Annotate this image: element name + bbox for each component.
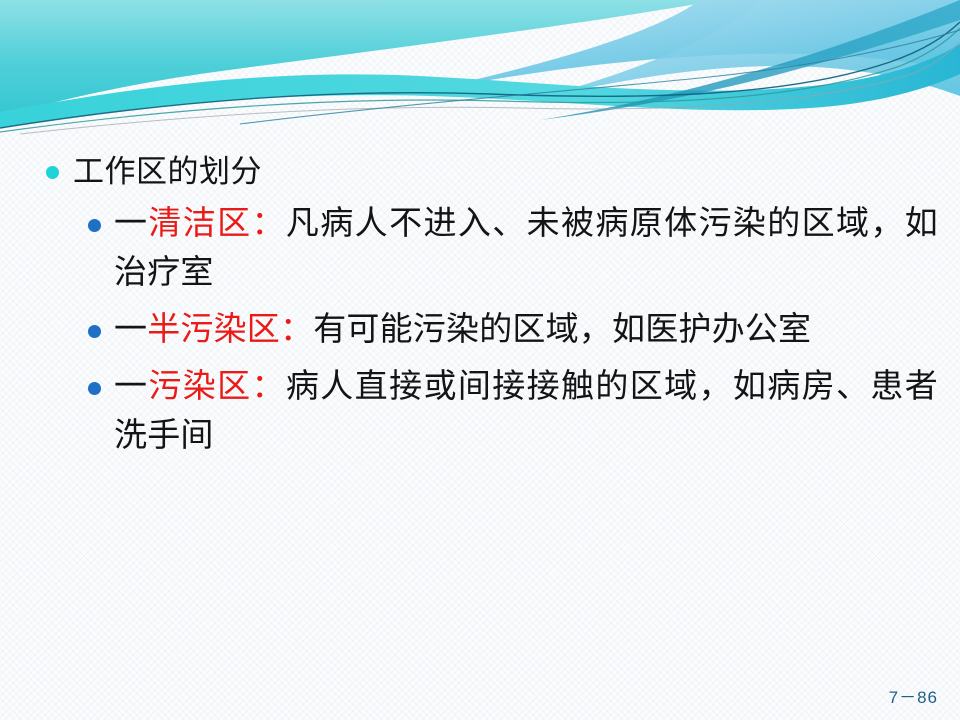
filled-circle-bullet-icon: [46, 166, 59, 179]
zone-item-text: 一污染区：病人直接或间接接触的区域，如病房、患者洗手间: [114, 363, 938, 461]
zone-list: 一清洁区：凡病人不进入、未被病原体污染的区域，如治疗室 一半污染区：有可能污染的…: [0, 200, 960, 461]
page-title: 工作区的划分: [73, 150, 262, 194]
zone-label: 半污染区：: [147, 312, 313, 348]
list-item: 一清洁区：凡病人不进入、未被病原体污染的区域，如治疗室: [88, 200, 938, 298]
filled-circle-bullet-icon: [88, 382, 101, 395]
heading-bullet-row: 工作区的划分: [0, 150, 960, 194]
zone-item-text: 一半污染区：有可能污染的区域，如医护办公室: [114, 306, 811, 355]
zone-item-text: 一清洁区：凡病人不进入、未被病原体污染的区域，如治疗室: [114, 200, 938, 298]
dash-prefix: 一: [114, 312, 147, 348]
list-item: 一污染区：病人直接或间接接触的区域，如病房、患者洗手间: [88, 363, 938, 461]
dash-prefix: 一: [114, 369, 148, 405]
filled-circle-bullet-icon: [88, 219, 101, 232]
filled-circle-bullet-icon: [88, 325, 101, 338]
slide-body: 工作区的划分 一清洁区：凡病人不进入、未被病原体污染的区域，如治疗室 一半污染区…: [0, 150, 960, 469]
zone-label: 清洁区：: [148, 206, 286, 242]
presentation-slide: 工作区的划分 一清洁区：凡病人不进入、未被病原体污染的区域，如治疗室 一半污染区…: [0, 0, 960, 720]
list-item: 一半污染区：有可能污染的区域，如医护办公室: [88, 306, 938, 355]
zone-label: 污染区：: [148, 369, 286, 405]
dash-prefix: 一: [114, 206, 148, 242]
zone-description: 有可能污染的区域，如医护办公室: [313, 312, 811, 348]
header-wave-decoration: [0, 0, 960, 135]
page-number: 7－86: [889, 683, 938, 708]
